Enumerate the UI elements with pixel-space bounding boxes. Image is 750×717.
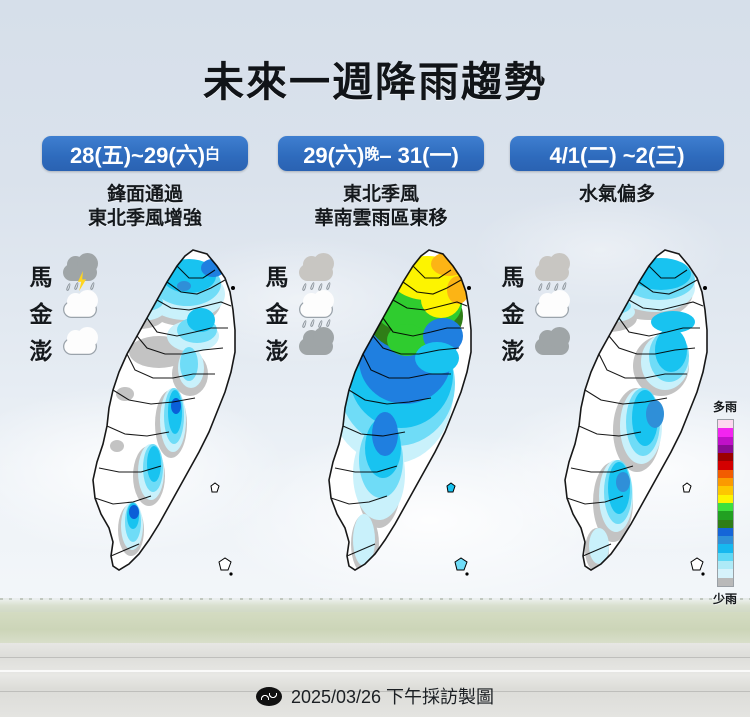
island-label-matsu-2: 馬 bbox=[263, 258, 291, 292]
island-label-kinmen-3: 金 bbox=[499, 295, 527, 329]
panel-3-desc-line1: 水氣偏多 bbox=[579, 184, 655, 205]
legend-color-swatch bbox=[718, 569, 733, 577]
date-banner-2-suffix: 晚 bbox=[364, 143, 379, 164]
legend-color-swatch bbox=[718, 453, 733, 461]
legend-color-swatch bbox=[718, 437, 733, 445]
island-label-penghu-2: 澎 bbox=[263, 332, 291, 366]
legend-color-swatch bbox=[718, 544, 733, 552]
legend-color-bar bbox=[717, 419, 734, 587]
panel-2-description: 東北季風 華南雲雨區東移 bbox=[263, 183, 499, 231]
panel-1-desc-line1: 鋒面通過 bbox=[107, 184, 183, 205]
panel-1-description: 鋒面通過 東北季風增強 bbox=[27, 183, 263, 231]
legend-color-swatch bbox=[718, 478, 733, 486]
date-banner-2-tail: – 31(一) bbox=[379, 138, 458, 170]
legend-color-swatch bbox=[718, 561, 733, 569]
legend-color-swatch bbox=[718, 495, 733, 503]
panel-2-desc-line2: 華南雲雨區東移 bbox=[263, 207, 499, 231]
legend-color-swatch bbox=[718, 420, 733, 428]
island-label-kinmen-2: 金 bbox=[263, 295, 291, 329]
grass-background bbox=[0, 612, 750, 644]
footer-timestamp: 2025/03/26 下午採訪製圖 bbox=[291, 683, 494, 709]
page-title: 未來一週降雨趨勢 bbox=[0, 48, 750, 108]
date-banner-2-main: 29(六) bbox=[303, 138, 364, 170]
forecast-panel-3: 4/1(二) ~2(三) 水氣偏多 馬 金 澎 bbox=[499, 136, 735, 207]
legend-color-swatch bbox=[718, 536, 733, 544]
panel-2-desc-line1: 東北季風 bbox=[343, 184, 419, 205]
panel-3-description: 水氣偏多 bbox=[499, 183, 735, 207]
legend-color-swatch bbox=[718, 511, 733, 519]
panel-1-desc-line2: 東北季風增強 bbox=[27, 207, 263, 231]
legend-color-swatch bbox=[718, 578, 733, 586]
date-banner-3-main: 4/1(二) ~2(三) bbox=[549, 138, 684, 170]
legend-color-swatch bbox=[718, 503, 733, 511]
legend-color-swatch bbox=[718, 553, 733, 561]
legend-top-label: 多雨 bbox=[702, 398, 748, 415]
date-banner-2[interactable]: 29(六)晚 – 31(一) bbox=[278, 136, 484, 171]
date-banner-3[interactable]: 4/1(二) ~2(三) bbox=[510, 136, 724, 171]
rainfall-color-legend: 多雨 少雨 bbox=[702, 398, 748, 607]
rainfall-map-2 bbox=[321, 244, 499, 596]
cwa-logo-icon bbox=[256, 687, 282, 706]
footer: 2025/03/26 下午採訪製圖 bbox=[0, 683, 750, 709]
legend-color-swatch bbox=[718, 445, 733, 453]
rainfall-map-1 bbox=[85, 244, 263, 596]
legend-color-swatch bbox=[718, 520, 733, 528]
date-banner-1[interactable]: 28(五)~29(六)白 bbox=[42, 136, 248, 171]
legend-bottom-label: 少雨 bbox=[702, 590, 748, 607]
island-label-kinmen-1: 金 bbox=[27, 295, 55, 329]
legend-color-swatch bbox=[718, 428, 733, 436]
island-label-penghu-3: 澎 bbox=[499, 332, 527, 366]
date-banner-1-main: 28(五)~29(六) bbox=[70, 138, 205, 170]
date-banner-1-suffix: 白 bbox=[205, 143, 220, 164]
island-label-matsu-3: 馬 bbox=[499, 258, 527, 292]
legend-color-swatch bbox=[718, 528, 733, 536]
legend-color-swatch bbox=[718, 486, 733, 494]
island-label-penghu-1: 澎 bbox=[27, 332, 55, 366]
forecast-panel-1: 28(五)~29(六)白 鋒面通過 東北季風增強 馬 金 bbox=[27, 136, 263, 231]
island-label-matsu-1: 馬 bbox=[27, 258, 55, 292]
legend-color-swatch bbox=[718, 470, 733, 478]
forecast-panel-2: 29(六)晚 – 31(一) 東北季風 華南雲雨區東移 馬 金 bbox=[263, 136, 499, 231]
infographic-root: 未來一週降雨趨勢 28(五)~29(六)白 鋒面通過 東北季風增強 馬 金 bbox=[0, 0, 750, 717]
legend-color-swatch bbox=[718, 461, 733, 469]
